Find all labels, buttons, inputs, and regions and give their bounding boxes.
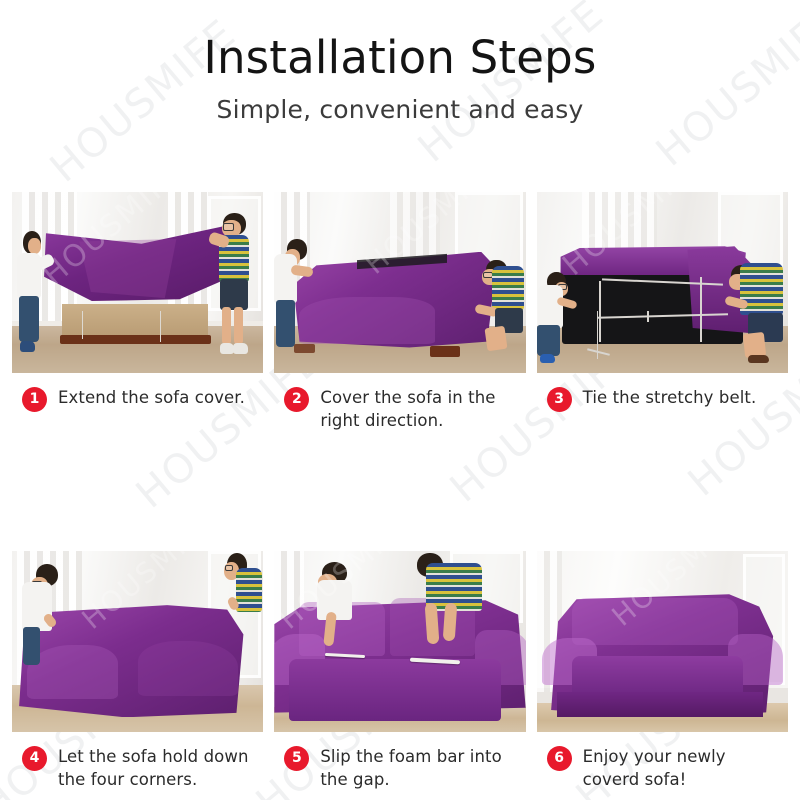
- step-number-badge-2: 2: [284, 387, 309, 412]
- step-card-1: HOUSMIFE 1 Extend the sofa cover.: [12, 192, 263, 433]
- step-caption-6: 6 Enjoy your newly coverd sofa!: [537, 732, 788, 792]
- step-photo-6: HOUSMIFE: [537, 551, 788, 732]
- step-photo-1: HOUSMIFE: [12, 192, 263, 373]
- step-caption-4: 4 Let the sofa hold down the four corner…: [12, 732, 263, 792]
- step-photo-4: HOUSMIFE: [12, 551, 263, 732]
- step-card-3: HOUSMIFE 3 Tie the stretchy belt.: [537, 192, 788, 433]
- step-caption-1: 1 Extend the sofa cover.: [12, 373, 263, 412]
- step-card-2: HOUSMIFE 2 Cover the sofa in the right d…: [274, 192, 525, 433]
- step-caption-3: 3 Tie the stretchy belt.: [537, 373, 788, 412]
- step-number-badge-5: 5: [284, 746, 309, 771]
- page-header: Installation Steps Simple, convenient an…: [0, 0, 800, 124]
- page-title: Installation Steps: [0, 34, 800, 81]
- step-card-4: HOUSMIFE 4 Let the sofa hold down the fo…: [12, 551, 263, 792]
- installation-steps-grid: HOUSMIFE 1 Extend the sofa cover.: [12, 192, 788, 792]
- step-card-6: HOUSMIFE 6 Enjoy your newly coverd sofa!: [537, 551, 788, 792]
- step-photo-3: HOUSMIFE: [537, 192, 788, 373]
- step-photo-5: HOUSMIFE: [274, 551, 525, 732]
- step-photo-2: HOUSMIFE: [274, 192, 525, 373]
- step-number-badge-4: 4: [22, 746, 47, 771]
- step-number-badge-3: 3: [547, 387, 572, 412]
- step-number-badge-6: 6: [547, 746, 572, 771]
- step-caption-2: 2 Cover the sofa in the right direction.: [274, 373, 525, 433]
- step-card-5: HOUSMIFE 5 Slip the foam bar into the ga…: [274, 551, 525, 792]
- step-caption-text-4: Let the sofa hold down the four corners.: [58, 745, 254, 792]
- step-caption-text-2: Cover the sofa in the right direction.: [320, 386, 516, 433]
- step-caption-text-5: Slip the foam bar into the gap.: [320, 745, 516, 792]
- step-number-badge-1: 1: [22, 387, 47, 412]
- step-caption-text-3: Tie the stretchy belt.: [583, 386, 757, 409]
- step-caption-5: 5 Slip the foam bar into the gap.: [274, 732, 525, 792]
- page-subtitle: Simple, convenient and easy: [0, 95, 800, 124]
- step-caption-text-6: Enjoy your newly coverd sofa!: [583, 745, 779, 792]
- step-caption-text-1: Extend the sofa cover.: [58, 386, 245, 409]
